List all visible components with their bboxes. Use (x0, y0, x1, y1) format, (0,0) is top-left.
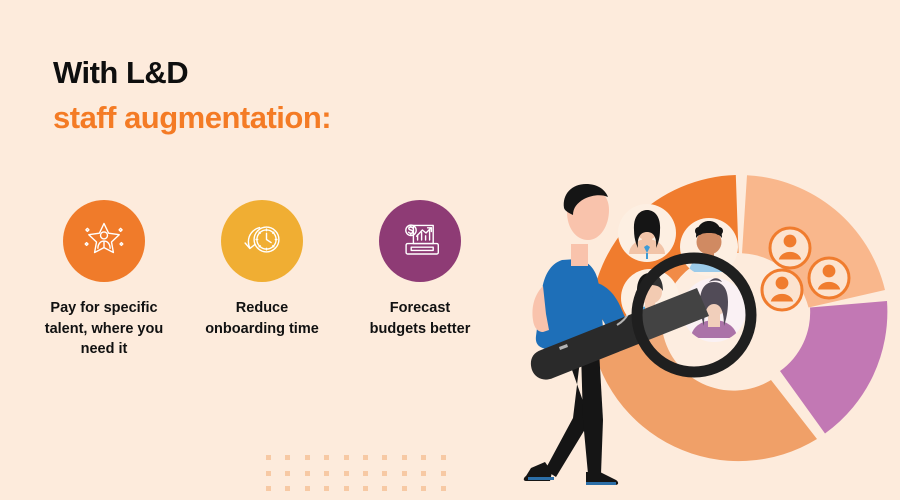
grid-dot (382, 486, 387, 491)
grid-dot (421, 455, 426, 460)
grid-dot (285, 471, 290, 476)
grid-dot (441, 486, 446, 491)
benefit-item-reduce-onboarding-time: Reduce onboarding time (183, 200, 341, 339)
grid-dot (441, 471, 446, 476)
benefit-icon-circle-3 (379, 200, 461, 282)
grid-dot (382, 455, 387, 460)
grid-dot (344, 471, 349, 476)
grid-dot (324, 471, 329, 476)
grid-dot (266, 486, 271, 491)
grid-dot (266, 455, 271, 460)
headline-line-1: With L&D (53, 57, 483, 88)
user-badge-1 (770, 228, 810, 268)
benefit-icon-circle-2 (221, 200, 303, 282)
grid-dot (285, 455, 290, 460)
headline-block: With L&D staff augmentation: (53, 57, 483, 133)
grid-dot (363, 486, 368, 491)
grid-dot (421, 471, 426, 476)
benefit-item-forecast-budgets-better: Forecast budgets better (341, 200, 499, 339)
character-neck (571, 244, 588, 266)
grid-dot (324, 486, 329, 491)
grid-dot (266, 471, 271, 476)
grid-dot (305, 486, 310, 491)
grid-dot (441, 455, 446, 460)
grid-dot (324, 455, 329, 460)
benefit-label-2: Reduce onboarding time (187, 298, 337, 339)
grid-dot (305, 455, 310, 460)
grid-dot (285, 486, 290, 491)
grid-dot (402, 486, 407, 491)
grid-dot (363, 455, 368, 460)
budget-chart-icon (395, 214, 445, 269)
infographic-canvas: With L&D staff augmentation: (0, 0, 900, 500)
grid-dot (421, 486, 426, 491)
grid-dot (344, 486, 349, 491)
grid-dot (363, 471, 368, 476)
character-leg-front (581, 350, 603, 474)
user-badge-3 (762, 270, 802, 310)
benefits-row: Pay for specific talent, where you need … (25, 200, 500, 360)
benefit-label-3: Forecast budgets better (345, 298, 495, 339)
headline-line-2: staff augmentation: (53, 102, 483, 133)
clock-rewind-icon (237, 214, 287, 269)
decorative-dot-grid (266, 455, 460, 500)
benefit-label-1: Pay for specific talent, where you need … (29, 298, 179, 360)
grid-dot (402, 455, 407, 460)
benefit-item-pay-for-specific-talent: Pay for specific talent, where you need … (25, 200, 183, 360)
grid-dot (305, 471, 310, 476)
grid-dot (344, 455, 349, 460)
talent-search-donut-illustration (495, 150, 900, 500)
star-person-icon (79, 214, 129, 269)
benefit-icon-circle-1 (63, 200, 145, 282)
grid-dot (382, 471, 387, 476)
user-badge-2 (809, 258, 849, 298)
grid-dot (402, 471, 407, 476)
avatar-woman-dark-hair (618, 204, 676, 262)
